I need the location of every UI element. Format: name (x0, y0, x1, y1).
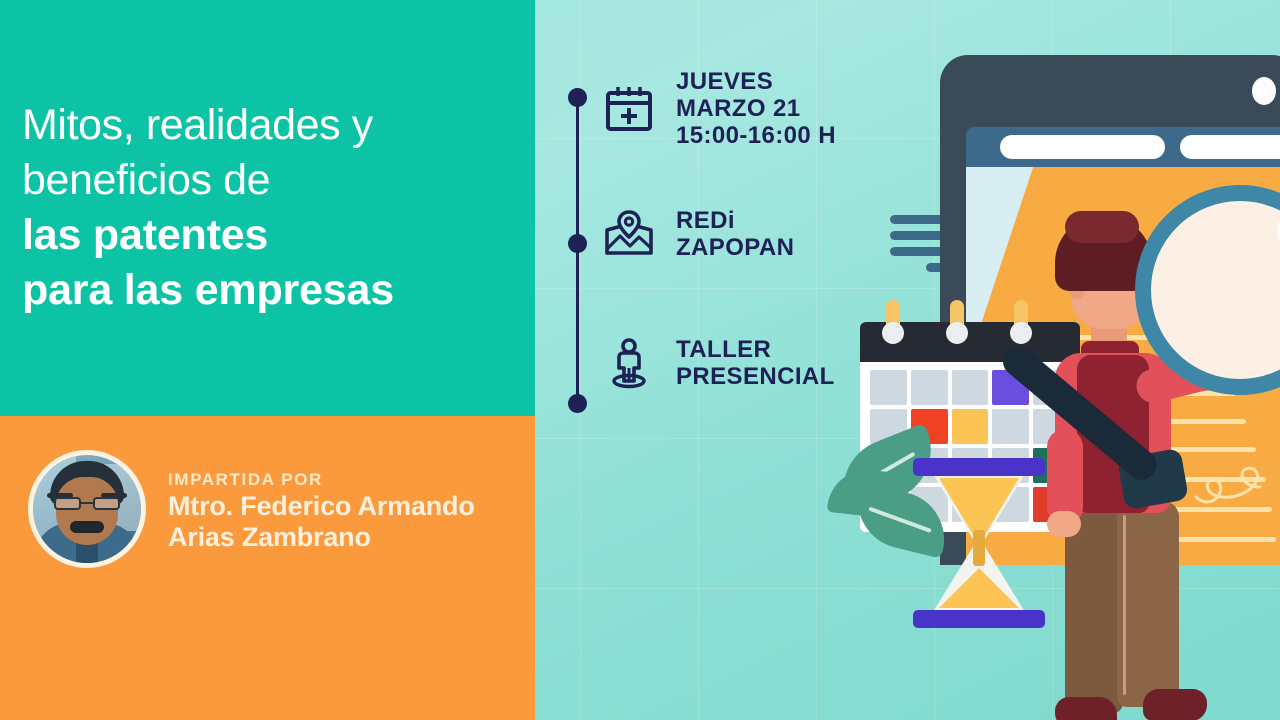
calendar-ring-cap (882, 322, 904, 344)
person-shoe-left (1055, 697, 1117, 720)
person-hand-lower (1047, 511, 1081, 537)
calendar-cell (952, 370, 989, 405)
person-hair-highlight (1065, 211, 1139, 243)
calendar-ring-cap (946, 322, 968, 344)
format-line-1: TALLER (676, 336, 835, 363)
avatar-mustache (70, 521, 104, 533)
calendar-cell (911, 370, 948, 405)
calendar-cell (992, 409, 1029, 444)
timeline-dot-2 (568, 234, 587, 253)
magnifier-lens (1135, 185, 1280, 395)
title-line-2: beneficios de (22, 153, 532, 208)
date-time: 15:00-16:00 H (676, 122, 836, 149)
title-line-1: Mitos, realidades y (22, 98, 532, 153)
illustration (835, 0, 1280, 720)
hourglass-sand-top (939, 478, 1019, 538)
detail-text-date: JUEVES MARZO 21 15:00-16:00 H (676, 68, 836, 149)
timeline-dot-3 (568, 394, 587, 413)
location-line-1: REDi (676, 207, 794, 234)
calendar-plus-icon (600, 80, 658, 138)
tablet-camera (1252, 77, 1276, 105)
calendar-cell-event-yellow (952, 409, 989, 444)
event-poster: Mitos, realidades y beneficios de las pa… (0, 0, 1280, 720)
tablet-toolbar-pill (1000, 135, 1165, 159)
person-shoe-right (1143, 689, 1207, 720)
page-title: Mitos, realidades y beneficios de las pa… (22, 98, 532, 318)
speaker-text: IMPARTIDA POR Mtro. Federico Armando Ari… (168, 465, 475, 553)
detail-item-date: JUEVES MARZO 21 15:00-16:00 H (600, 68, 836, 149)
standing-person-icon (600, 334, 658, 392)
avatar-glasses (54, 497, 120, 510)
date-day: JUEVES (676, 68, 836, 95)
speaker-name-line-2: Arias Zambrano (168, 522, 475, 553)
avatar (28, 450, 146, 568)
map-pin-icon (600, 205, 658, 263)
person-trouser-seam (1123, 515, 1126, 695)
date-month: MARZO 21 (676, 95, 836, 122)
calendar-cell (870, 370, 907, 405)
person-leg-right (1117, 501, 1179, 707)
speaker-block: IMPARTIDA POR Mtro. Federico Armando Ari… (28, 450, 475, 568)
location-line-2: ZAPOPAN (676, 234, 794, 261)
hourglass-neck (973, 530, 985, 566)
avatar-face (56, 477, 118, 545)
magnifying-glass (1135, 185, 1280, 435)
speaker-name-line-1: Mtro. Federico Armando (168, 491, 475, 522)
title-line-3: las patentes (22, 208, 532, 263)
title-line-4: para las empresas (22, 263, 532, 318)
tablet-toolbar-pill (1180, 135, 1280, 159)
detail-item-format: TALLER PRESENCIAL (600, 334, 835, 392)
speaker-kicker: IMPARTIDA POR (168, 469, 475, 491)
format-line-2: PRESENCIAL (676, 363, 835, 390)
detail-text-location: REDi ZAPOPAN (676, 207, 794, 261)
timeline-dot-1 (568, 88, 587, 107)
detail-text-format: TALLER PRESENCIAL (676, 336, 835, 390)
detail-item-location: REDi ZAPOPAN (600, 205, 794, 263)
